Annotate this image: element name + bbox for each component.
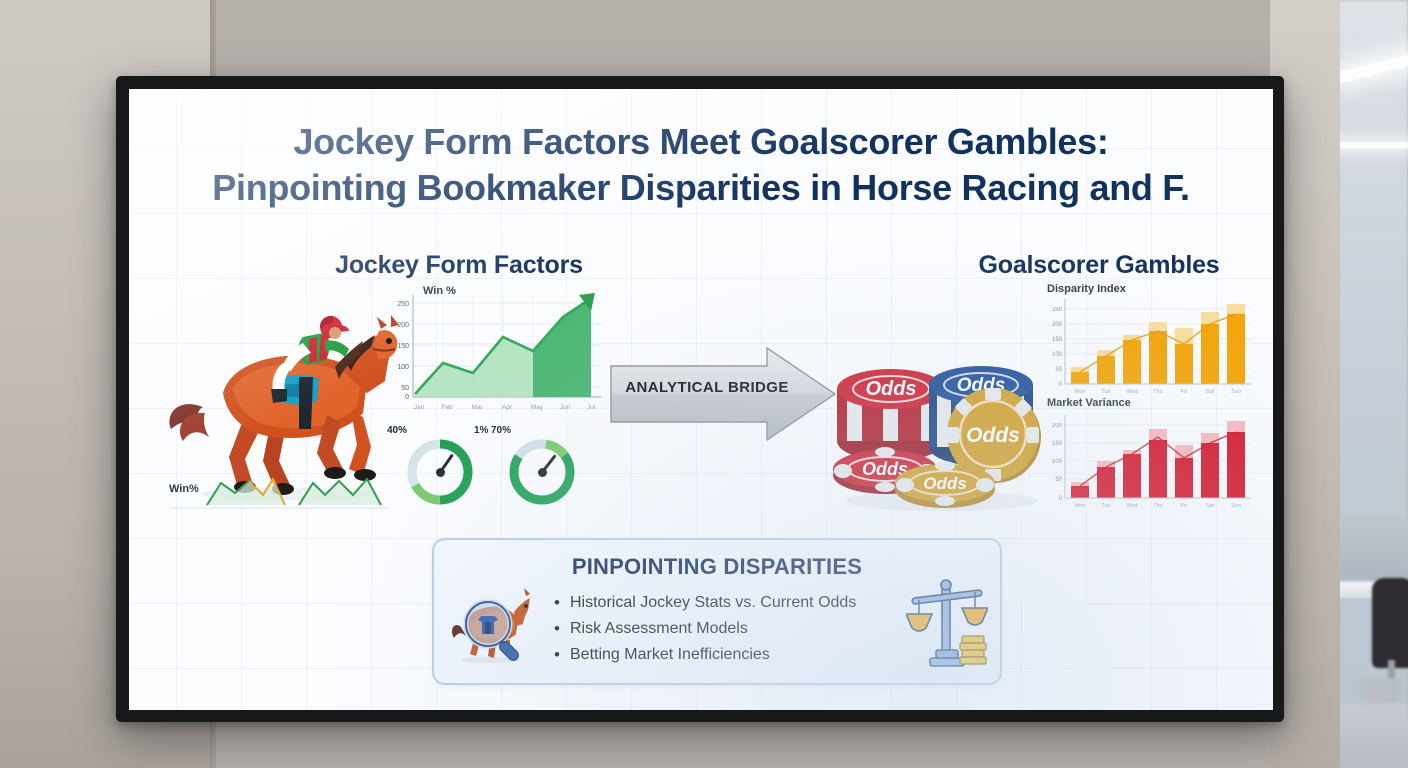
svg-text:Thu: Thu: [1153, 503, 1162, 509]
wall-mounted-display[interactable]: Jockey Form Factors Meet Goalscorer Gamb…: [116, 76, 1284, 722]
svg-text:Sun: Sun: [1231, 389, 1241, 395]
gauge-right: [505, 435, 579, 509]
svg-text:150: 150: [1052, 337, 1063, 343]
office-chair: [1372, 578, 1408, 668]
svg-text:250: 250: [397, 301, 409, 308]
svg-text:0: 0: [1059, 496, 1063, 502]
callout-bullet-list: Historical Jockey Stats vs. Current Odds…: [554, 590, 856, 668]
svg-text:Wed: Wed: [1126, 503, 1137, 509]
svg-text:100: 100: [397, 364, 409, 371]
callout-bullet-1: Historical Jockey Stats vs. Current Odds: [554, 590, 856, 616]
callout-bullet-3: Betting Market Inefficiencies: [554, 642, 856, 668]
gauge-hub: [436, 468, 445, 477]
svg-text:200: 200: [1052, 423, 1063, 429]
svg-text:Odds: Odds: [923, 474, 966, 493]
svg-text:Thu: Thu: [1153, 389, 1162, 395]
gauge-hub: [538, 468, 547, 477]
slide-title: Jockey Form Factors Meet Goalscorer Gamb…: [129, 119, 1273, 211]
svg-text:Fri: Fri: [1181, 389, 1187, 395]
svg-text:Feb: Feb: [441, 404, 453, 411]
svg-text:200: 200: [397, 322, 409, 329]
slide-title-line-2: Pinpointing Bookmaker Disparities in Hor…: [129, 165, 1273, 211]
ceiling-light-icon: [1336, 142, 1408, 148]
svg-text:0: 0: [405, 394, 409, 401]
gauge-left-label-low: 40%: [387, 425, 407, 436]
svg-text:Odds: Odds: [966, 424, 1020, 447]
market-variance-chart: Market Variance: [1039, 399, 1254, 509]
svg-text:Sat: Sat: [1206, 389, 1215, 395]
office-partition: [1340, 516, 1408, 580]
callout-bullet-2: Risk Assessment Models: [554, 616, 856, 642]
svg-text:150: 150: [1052, 441, 1063, 447]
svg-text:100: 100: [1052, 459, 1063, 465]
svg-text:May: May: [531, 404, 544, 411]
svg-text:50: 50: [1055, 477, 1062, 483]
svg-text:Sun: Sun: [1231, 503, 1241, 509]
svg-text:Fri: Fri: [1181, 503, 1187, 509]
win-rate-sparkline: Win%: [169, 471, 389, 511]
svg-text:250: 250: [1052, 307, 1063, 313]
poker-chip-stacks-icon: Odds Odds: [829, 289, 1049, 514]
svg-text:Jan: Jan: [414, 404, 425, 411]
svg-text:Tue: Tue: [1101, 503, 1110, 509]
svg-text:Odds: Odds: [865, 378, 916, 400]
analytical-bridge-label: ANALYTICAL BRIDGE: [607, 379, 807, 396]
svg-text:150: 150: [397, 343, 409, 350]
disparity-index-chart: Disparity Index: [1039, 285, 1254, 395]
svg-text:Wed: Wed: [1126, 389, 1137, 395]
svg-text:Mon: Mon: [1075, 503, 1086, 509]
svg-text:Apr: Apr: [502, 404, 513, 411]
svg-text:0: 0: [1059, 382, 1063, 388]
svg-text:100: 100: [1052, 352, 1063, 358]
pinpointing-disparities-callout: PINPOINTING DISPARITIES: [432, 538, 1002, 685]
svg-text:Jul: Jul: [587, 404, 596, 411]
gauge-left-label-high: 1%: [474, 425, 488, 436]
gauge-right-label: 70%: [491, 425, 511, 436]
slide-content: Jockey Form Factors Meet Goalscorer Gamb…: [129, 89, 1273, 710]
balance-scales-coins-icon: [906, 574, 988, 670]
svg-text:Sat: Sat: [1206, 503, 1215, 509]
svg-text:200: 200: [1052, 322, 1063, 328]
svg-text:Jun: Jun: [560, 404, 571, 411]
section-heading-goalscorer-gambles: Goalscorer Gambles: [919, 251, 1273, 280]
section-heading-jockey-form-factors: Jockey Form Factors: [279, 251, 639, 280]
win-rate-area-chart: Win %: [379, 285, 604, 415]
svg-text:50: 50: [401, 385, 409, 392]
presentation-screen: Jockey Form Factors Meet Goalscorer Gamb…: [129, 89, 1273, 710]
horse-magnifier-icon: [446, 582, 532, 668]
svg-text:50: 50: [1055, 367, 1062, 373]
gauge-left: [403, 435, 477, 509]
svg-text:Mar: Mar: [471, 404, 483, 411]
slide-title-line-1: Jockey Form Factors Meet Goalscorer Gamb…: [129, 119, 1273, 165]
svg-text:Tue: Tue: [1101, 389, 1110, 395]
floor-right: [1338, 704, 1408, 768]
performance-gauges: 40% 1% 70%: [387, 419, 607, 509]
svg-text:Mon: Mon: [1075, 389, 1086, 395]
